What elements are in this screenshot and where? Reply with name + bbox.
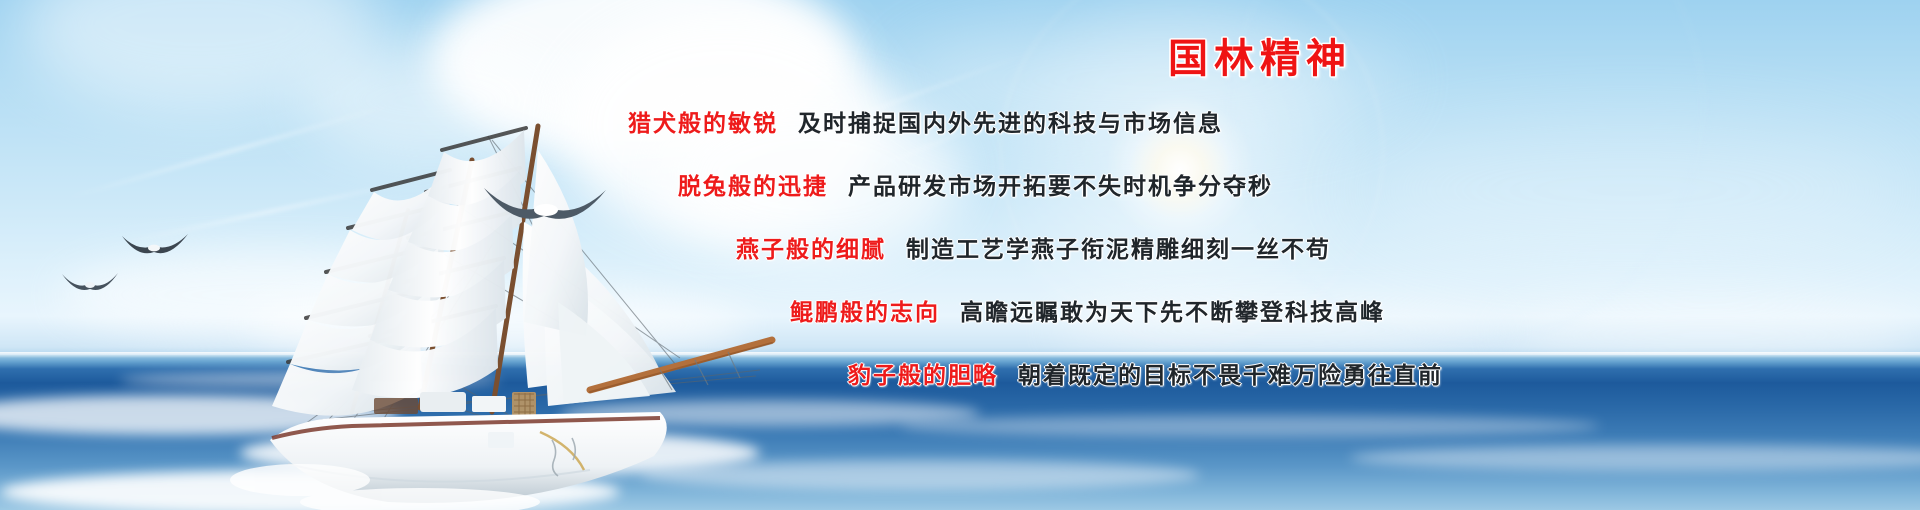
- seagull-icon: [60, 270, 120, 298]
- spirit-keyword: 燕子般的细腻: [736, 237, 886, 262]
- spirit-line: 豹子般的胆略朝着既定的目标不畏千难万险勇往直前: [600, 356, 1920, 390]
- page-title: 国林精神: [600, 26, 1920, 84]
- spirit-keyword: 鲲鹏般的志向: [790, 300, 940, 325]
- spirit-text: 及时捕捉国内外先进的科技与市场信息: [798, 111, 1223, 136]
- spirit-line: 燕子般的细腻制造工艺学燕子衔泥精雕细刻一丝不苟: [600, 230, 1920, 264]
- spirit-keyword: 猎犬般的敏锐: [628, 111, 778, 136]
- spirit-line: 鲲鹏般的志向高瞻远瞩敢为天下先不断攀登科技高峰: [600, 293, 1920, 327]
- spirit-keyword: 豹子般的胆略: [848, 363, 998, 388]
- seagull-icon: [120, 230, 190, 264]
- seagull-icon: [480, 178, 610, 234]
- spirit-text: 产品研发市场开拓要不失时机争分夺秒: [848, 174, 1273, 199]
- spirit-line: 脱兔般的迅捷产品研发市场开拓要不失时机争分夺秒: [600, 167, 1920, 201]
- company-spirit-banner: 国林精神 猎犬般的敏锐及时捕捉国内外先进的科技与市场信息 脱兔般的迅捷产品研发市…: [0, 0, 1920, 510]
- spirit-line: 猎犬般的敏锐及时捕捉国内外先进的科技与市场信息: [600, 104, 1920, 138]
- spirit-keyword: 脱兔般的迅捷: [678, 174, 828, 199]
- spirit-text: 制造工艺学燕子衔泥精雕细刻一丝不苟: [906, 237, 1331, 262]
- spirit-line-list: 猎犬般的敏锐及时捕捉国内外先进的科技与市场信息 脱兔般的迅捷产品研发市场开拓要不…: [600, 104, 1920, 419]
- spirit-text: 朝着既定的目标不畏千难万险勇往直前: [1018, 363, 1443, 388]
- spirit-text-block: 国林精神 猎犬般的敏锐及时捕捉国内外先进的科技与市场信息 脱兔般的迅捷产品研发市…: [600, 0, 1920, 510]
- spirit-text: 高瞻远瞩敢为天下先不断攀登科技高峰: [960, 300, 1385, 325]
